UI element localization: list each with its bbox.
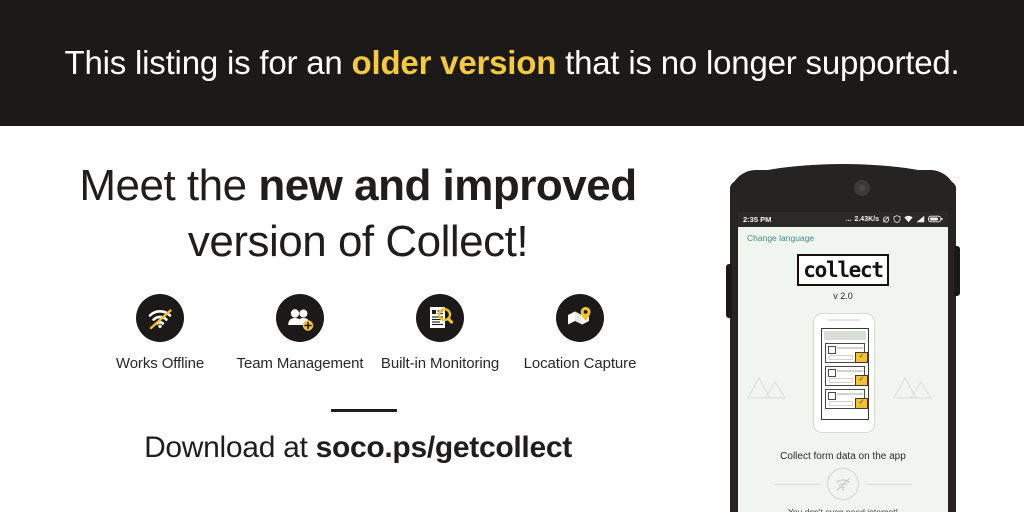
feature-list: Works Offline Team Management [90,294,650,372]
phone-camera-icon [854,180,870,196]
battery-icon [928,215,943,225]
illustration-phone: ✓ ✓ ✓ [813,313,875,433]
offline-indicator-row [738,468,948,500]
row-input [829,401,853,406]
feature-item-built-in-monitoring: Built-in Monitoring [370,294,510,372]
banner-text-after: that is no longer supported. [556,44,959,81]
feature-label: Built-in Monitoring [381,355,499,372]
feature-item-location-capture: Location Capture [510,294,650,372]
row-line [837,393,863,395]
row-line [837,347,863,349]
row-input [829,355,853,360]
feature-item-works-offline: Works Offline [90,294,230,372]
illustration-phone-notch [828,319,860,321]
map-pin-icon [556,294,604,342]
download-callout: Download at soco.ps/getcollect [0,431,716,465]
change-language-link[interactable]: Change language [747,233,948,243]
divider-left [774,484,820,485]
onboarding-caption: Collect form data on the app [738,451,948,462]
illustration-form-row: ✓ [825,343,865,363]
phone-mockup: 2:35 PM ... 2.43K/s [700,126,1024,512]
banner-message: This listing is for an older version tha… [65,44,960,82]
row-square-icon [828,346,836,354]
phone-screen: 2:35 PM ... 2.43K/s [738,212,948,512]
wifi-off-outline-icon [827,468,859,500]
status-right-group: ... 2.43K/s [846,215,943,225]
checkmark-icon: ✓ [855,375,868,386]
headline-line1-normal: Meet the [79,161,258,210]
download-url[interactable]: soco.ps/getcollect [316,431,572,464]
row-input [829,378,853,383]
signal-icon [916,215,925,225]
banner-text-before: This listing is for an [65,44,352,81]
app-version-label: v 2.0 [738,291,948,301]
headline-line1-bold: new and improved [258,161,636,210]
team-add-icon [276,294,324,342]
illustration-form-row: ✓ [825,389,865,409]
left-column: Meet the new and improved version of Col… [0,126,716,512]
feature-item-team-management: Team Management [230,294,370,372]
feature-label: Location Capture [524,355,637,372]
phone-volume-button[interactable] [726,264,732,318]
divider-right [866,484,912,485]
status-net-speed: 2.43K/s [854,216,879,223]
wifi-off-icon [136,294,184,342]
feature-label: Team Management [237,355,364,372]
illustration-form-row: ✓ [825,366,865,386]
phone-power-button[interactable] [954,246,960,296]
headline-line2: version of Collect! [188,217,528,266]
feature-label: Works Offline [116,355,204,372]
wifi-icon [904,215,913,225]
mountain-left-icon [746,373,794,399]
main-content: Meet the new and improved version of Col… [0,126,1024,512]
mountain-right-icon [892,373,940,399]
page-title: Meet the new and improved version of Col… [0,158,716,270]
document-search-icon [416,294,464,342]
status-bar: 2:35 PM ... 2.43K/s [738,212,948,227]
checkmark-icon: ✓ [855,398,868,409]
onboarding-illustration: ✓ ✓ ✓ [738,311,948,443]
onboarding-subcaption: You don't even need internet! [738,507,948,512]
banner-highlight: older version [352,44,557,81]
deprecation-banner: This listing is for an older version tha… [0,0,1024,126]
illustration-form-card: ✓ ✓ ✓ [821,328,869,420]
checkmark-icon: ✓ [855,352,868,363]
row-line [837,370,863,372]
shield-icon [893,215,901,225]
row-square-icon [828,392,836,400]
collect-logo-text: collect [803,260,882,281]
download-prefix: Download at [144,431,316,464]
row-square-icon [828,369,836,377]
section-divider [331,409,397,412]
collect-logo: collect [797,254,889,286]
illustration-form-header [824,331,866,340]
alarm-muted-icon [882,215,890,225]
status-time: 2:35 PM [743,215,771,224]
overflow-dots-icon: ... [846,216,852,223]
